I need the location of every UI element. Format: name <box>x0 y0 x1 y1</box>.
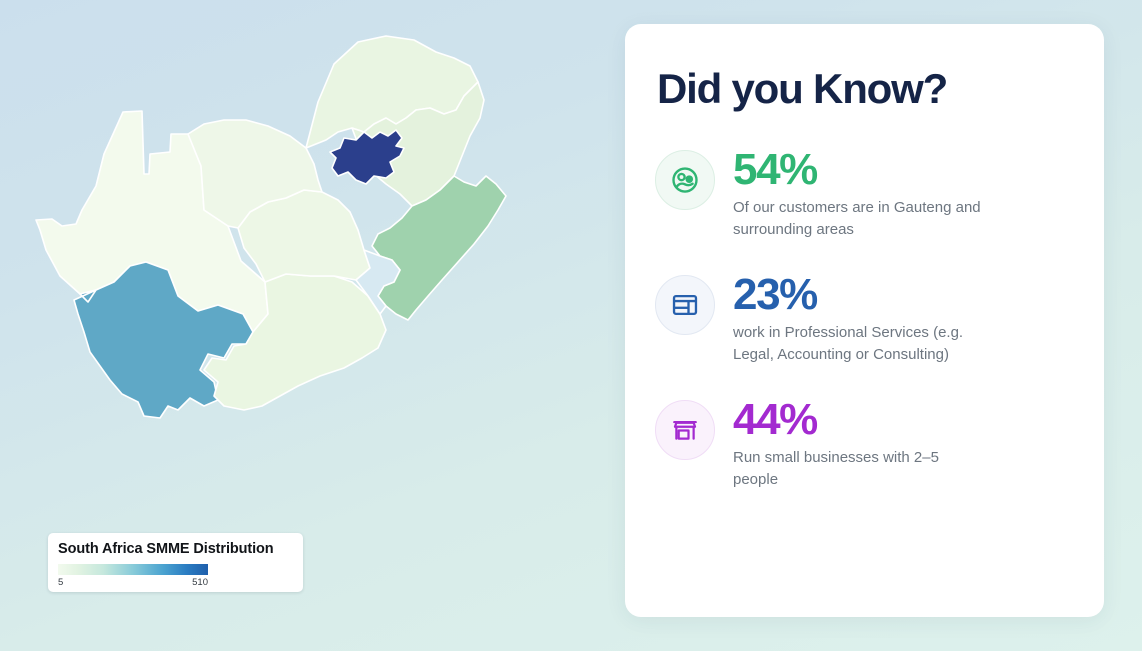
south-africa-map-panel: South Africa SMME Distribution 5 510 <box>0 0 610 651</box>
dashboard-layout-icon <box>655 275 715 335</box>
stat-row[interactable]: 44% Run small businesses with 2–5 people <box>655 396 1062 490</box>
south-africa-choropleth-map <box>18 14 548 474</box>
did-you-know-card: Did you Know? 54% Of our customers are i… <box>625 24 1104 617</box>
stat-row[interactable]: 23% work in Professional Services (e.g. … <box>655 271 1062 365</box>
stat-row[interactable]: 54% Of our customers are in Gauteng and … <box>655 146 1062 240</box>
stat-description: work in Professional Services (e.g. Lega… <box>733 322 985 365</box>
legend-color-scale <box>58 564 208 575</box>
storefront-icon <box>655 400 715 460</box>
map-region-kwazulu-natal[interactable] <box>372 176 506 320</box>
users-icon <box>655 150 715 210</box>
legend-title: South Africa SMME Distribution <box>58 540 293 558</box>
page-root: South Africa SMME Distribution 5 510 Did… <box>0 0 1142 651</box>
legend-min-label: 5 <box>58 576 63 589</box>
stat-description: Of our customers are in Gauteng and surr… <box>733 197 985 240</box>
stat-value: 54% <box>733 146 985 194</box>
map-legend: South Africa SMME Distribution 5 510 <box>48 533 303 592</box>
stats-list: 54% Of our customers are in Gauteng and … <box>655 146 1062 490</box>
stat-value: 44% <box>733 396 985 444</box>
page-title: Did you Know? <box>657 64 1062 114</box>
stat-body: 54% Of our customers are in Gauteng and … <box>733 146 985 240</box>
stat-description: Run small businesses with 2–5 people <box>733 447 985 490</box>
stat-value: 23% <box>733 271 985 319</box>
legend-max-label: 510 <box>192 576 208 589</box>
stat-body: 44% Run small businesses with 2–5 people <box>733 396 985 490</box>
stat-body: 23% work in Professional Services (e.g. … <box>733 271 985 365</box>
legend-tick-row: 5 510 <box>58 576 208 589</box>
